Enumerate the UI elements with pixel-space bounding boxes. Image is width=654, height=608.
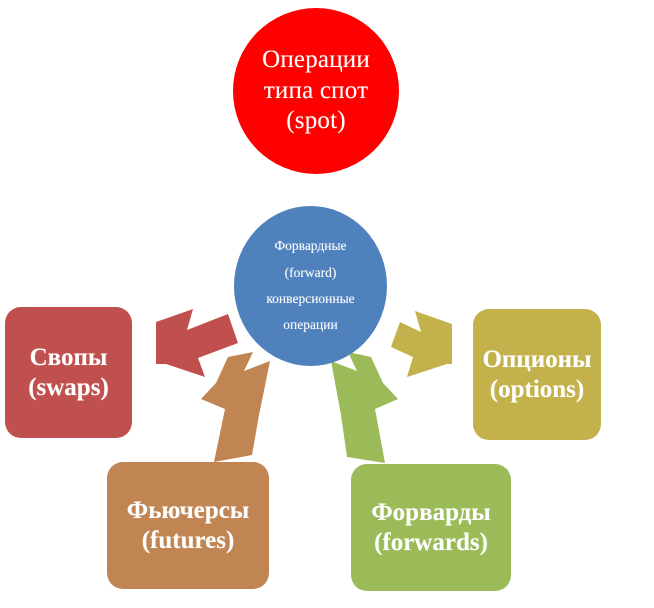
diagram-canvas: Операции типа спот (spot) Форвардные (fo… <box>0 0 654 608</box>
node-spot-operations-label: Операции типа спот (spot) <box>262 45 370 137</box>
node-forwards-label: Форварды (forwards) <box>371 498 491 558</box>
node-forward-conversion-operations[interactable]: Форвардные (forward) конверсионные опера… <box>234 206 387 366</box>
node-options[interactable]: Опционы (options) <box>473 309 601 440</box>
node-options-label: Опционы (options) <box>482 345 591 405</box>
arrow-swaps-to-center <box>156 309 238 377</box>
arrow-forwards-to-center <box>331 352 398 463</box>
node-spot-operations[interactable]: Операции типа спот (spot) <box>233 8 399 174</box>
node-futures-label: Фьючерсы (futures) <box>127 496 250 556</box>
node-swaps[interactable]: Свопы (swaps) <box>5 307 132 438</box>
arrow-options-to-center <box>391 311 452 377</box>
node-forwards[interactable]: Форварды (forwards) <box>351 464 511 591</box>
node-futures[interactable]: Фьючерсы (futures) <box>107 462 269 589</box>
arrow-futures-to-center <box>201 352 270 462</box>
node-forward-conversion-operations-label: Форвардные (forward) конверсионные опера… <box>266 233 354 338</box>
node-swaps-label: Свопы (swaps) <box>28 343 109 403</box>
